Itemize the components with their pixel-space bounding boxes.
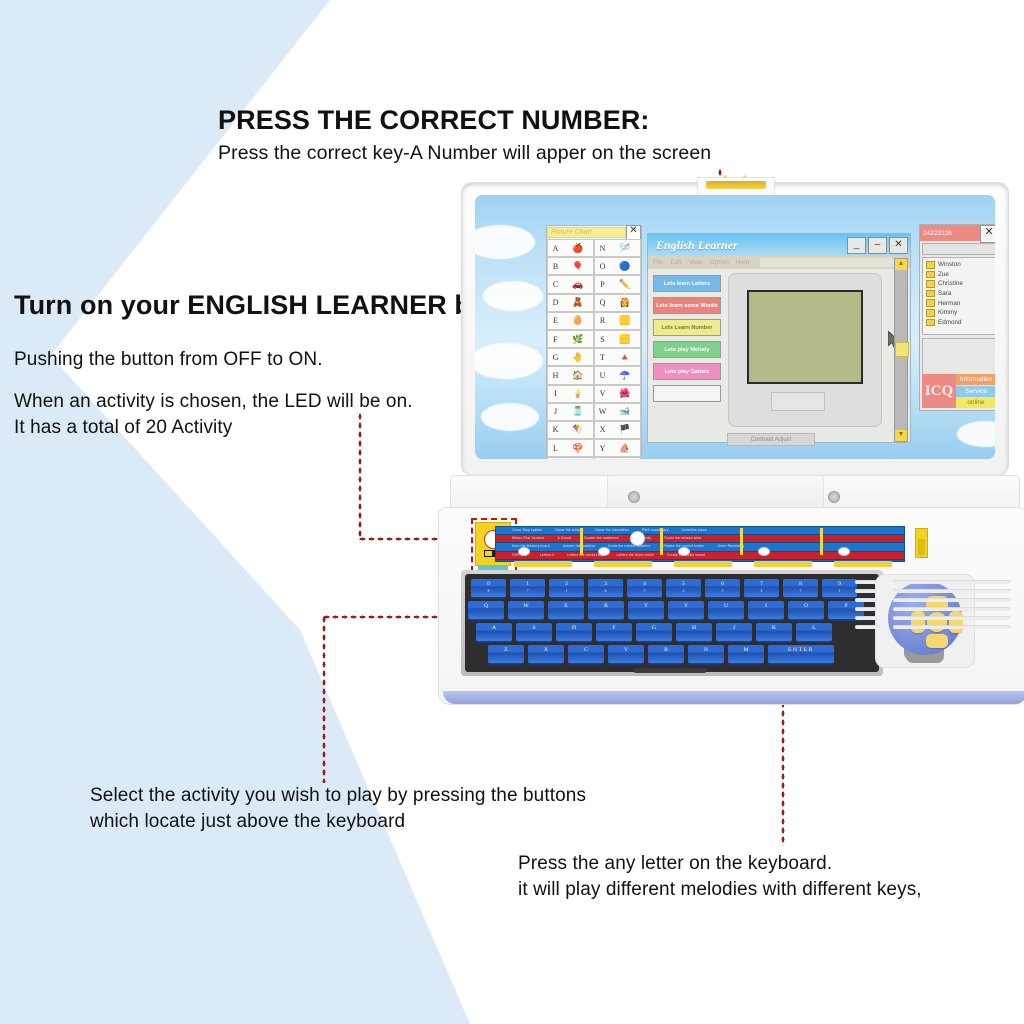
cloud-icon xyxy=(475,225,535,259)
key-sublabel: 7 xyxy=(783,587,818,593)
menu-item[interactable]: Edit xyxy=(670,259,681,266)
picture-chart-icon: 🫙 xyxy=(563,407,593,416)
key-label: J xyxy=(716,623,752,631)
picture-chart-icon: 🍦 xyxy=(563,389,593,398)
keyboard-row-qwerty: QWERTYUIOP xyxy=(468,601,864,619)
key-6[interactable]: 63 xyxy=(705,579,740,597)
key-m[interactable]: M xyxy=(728,645,764,663)
activity-button-1[interactable]: Lets learn Letters xyxy=(653,275,721,292)
picture-chart-icon: ✏️ xyxy=(610,280,640,289)
key-label: 3 xyxy=(588,579,623,587)
menubar-filler xyxy=(760,258,905,267)
picture-chart-cell[interactable]: Y⛵ xyxy=(594,439,641,457)
picture-chart-cell[interactable]: Q👸 xyxy=(594,294,641,312)
key-label: W xyxy=(508,601,544,609)
picture-chart-icon: 🐋 xyxy=(610,407,640,416)
icq-contact-row[interactable]: Zue xyxy=(923,270,995,280)
icq-contact-row[interactable]: Winston xyxy=(923,260,995,270)
key-e[interactable]: E xyxy=(548,601,584,619)
picture-chart-title: Picture Chart xyxy=(547,227,626,238)
key-label: 6 xyxy=(705,579,740,587)
volume-slider[interactable] xyxy=(915,528,928,558)
picture-chart-letter: K xyxy=(548,425,563,434)
picture-chart-letter: G xyxy=(548,353,563,362)
activity-button-pad[interactable] xyxy=(674,561,732,567)
icq-tab-list[interactable]: InformationServiceonline xyxy=(956,374,995,408)
key-label: D xyxy=(556,623,592,631)
key-label: T xyxy=(628,601,664,609)
activity-strip-row-2[interactable]: Writes Pital Sentece A Sound Double the … xyxy=(496,535,904,543)
activity-strip-text: Writes Pital Sentece A Sound Double the … xyxy=(496,535,904,542)
picture-chart-letter: A xyxy=(548,244,563,253)
picture-chart-cell[interactable]: Z🔶 xyxy=(594,457,641,459)
picture-chart-icon: 🍄 xyxy=(563,444,593,453)
cloud-icon xyxy=(481,403,539,431)
picture-chart-letter: J xyxy=(548,407,563,416)
base-front-edge xyxy=(443,691,1024,704)
picture-chart-cell[interactable]: X🏴 xyxy=(594,421,641,439)
key-label: O xyxy=(788,601,824,609)
icq-logo: ICQ xyxy=(922,374,956,408)
key-v[interactable]: V xyxy=(608,645,644,663)
callout-left-line2: When an activity is chosen, the LED will… xyxy=(14,391,486,413)
activity-strip-divider xyxy=(740,528,743,555)
picture-chart-icon: 🟨 xyxy=(610,316,640,325)
poster-canvas: PRESS THE CORRECT NUMBER: Press the corr… xyxy=(0,0,1024,1024)
picture-chart-cell[interactable]: M🌙 xyxy=(547,457,594,459)
key-label: 1 xyxy=(510,579,545,587)
activity-button-6[interactable] xyxy=(653,385,721,402)
maximize-icon[interactable]: – xyxy=(868,237,887,254)
key-sublabel: 1 xyxy=(549,587,584,593)
cloud-icon xyxy=(483,281,543,311)
callout-br-line1: Press the any letter on the keyboard. xyxy=(518,853,922,875)
key-label: A xyxy=(476,623,512,631)
key-o[interactable]: O xyxy=(788,601,824,619)
key-label: U xyxy=(708,601,744,609)
picture-chart-cell[interactable]: G🤚 xyxy=(547,348,594,366)
keyboard[interactable]: 08172136455263748791 QWERTYUIOP ASDFGHJK… xyxy=(461,570,883,676)
key-r[interactable]: R xyxy=(588,601,624,619)
icq-contact-name: Herman xyxy=(938,300,960,307)
picture-chart-letter: H xyxy=(548,371,563,380)
key-label: 2 xyxy=(549,579,584,587)
key-label: N xyxy=(688,645,724,653)
picture-chart-cell[interactable]: J🫙 xyxy=(547,403,594,421)
menu-item[interactable]: Option xyxy=(710,259,729,266)
picture-chart-titlebar: Picture Chart ✕ xyxy=(547,226,641,239)
picture-chart-icon: 🧸 xyxy=(563,298,593,307)
cloud-icon xyxy=(957,421,995,447)
picture-chart-letter: R xyxy=(595,316,610,325)
key-i[interactable]: I xyxy=(748,601,784,619)
picture-chart-cell[interactable]: P✏️ xyxy=(594,275,641,293)
key-k[interactable]: K xyxy=(756,623,792,641)
activity-strip-divider xyxy=(820,528,823,555)
callout-left-line3: It has a total of 20 Activity xyxy=(14,417,486,439)
callout-top-sub: Press the correct key-A Number will appe… xyxy=(218,142,711,165)
key-4[interactable]: 45 xyxy=(627,579,662,597)
english-learner-body: Lets learn LettersLets learn some WordsL… xyxy=(648,269,910,444)
picture-chart-cell[interactable]: B🎈 xyxy=(547,257,594,275)
callout-left-line1: Pushing the button from OFF to ON. xyxy=(14,349,486,371)
icq-contact-row[interactable]: Kimmy xyxy=(923,308,995,318)
picture-chart-icon: 🪁 xyxy=(563,425,593,434)
callout-bl-line1: Select the activity you wish to play by … xyxy=(90,785,586,807)
key-label: 8 xyxy=(783,579,818,587)
envelope-icon xyxy=(926,261,935,269)
activity-led-icon xyxy=(758,547,770,556)
callout-br-line2: it will play different melodies with dif… xyxy=(518,879,922,901)
key-sublabel: 3 xyxy=(705,587,740,593)
key-f[interactable]: F xyxy=(596,623,632,641)
screw-icon xyxy=(828,491,840,503)
close-icon[interactable]: ✕ xyxy=(889,237,908,254)
key-s[interactable]: S xyxy=(516,623,552,641)
spacebar[interactable] xyxy=(633,668,707,673)
picture-chart-icon: 🌿 xyxy=(563,335,593,344)
activity-button-2[interactable]: Lets learn some Words xyxy=(653,297,721,314)
key-sublabel: 1 xyxy=(822,587,857,593)
icq-tab-3[interactable]: online xyxy=(956,397,995,408)
key-x[interactable]: X xyxy=(528,645,564,663)
picture-chart-icon: 🔵 xyxy=(610,262,640,271)
picture-chart-cell[interactable]: U☂️ xyxy=(594,366,641,384)
picture-chart-letter: Q xyxy=(595,298,610,307)
picture-chart-cell[interactable]: O🔵 xyxy=(594,257,641,275)
icq-tab-2[interactable]: Service xyxy=(956,386,995,397)
latch-bar xyxy=(706,181,766,189)
side-vents xyxy=(855,580,877,636)
key-label: S xyxy=(516,623,552,631)
key-label: X xyxy=(528,645,564,653)
key-u[interactable]: U xyxy=(708,601,744,619)
key-label: B xyxy=(648,645,684,653)
icq-contact-name: Edmond xyxy=(938,319,961,326)
callout-bottom-left: Select the activity you wish to play by … xyxy=(90,785,586,833)
picture-chart-letter: O xyxy=(595,262,610,271)
picture-chart-cell[interactable]: I🍦 xyxy=(547,385,594,403)
icq-tab-1[interactable]: Information xyxy=(956,374,995,385)
key-8[interactable]: 87 xyxy=(783,579,818,597)
picture-chart-icon: 🏴 xyxy=(610,425,640,434)
key-sublabel: 5 xyxy=(627,587,662,593)
activity-button-pad[interactable] xyxy=(834,561,892,567)
key-7[interactable]: 74 xyxy=(744,579,779,597)
key-sublabel: 6 xyxy=(588,587,623,593)
key-label: L xyxy=(796,623,832,631)
picture-chart-icon: 🤚 xyxy=(563,353,593,362)
envelope-icon xyxy=(926,299,935,307)
picture-chart-letter: V xyxy=(595,389,610,398)
key-c[interactable]: C xyxy=(568,645,604,663)
key-enter[interactable]: ENTER xyxy=(768,645,834,663)
activity-button-4[interactable]: Lets play Melody xyxy=(653,341,721,358)
envelope-icon xyxy=(926,280,935,288)
picture-chart-icon: 🏠 xyxy=(563,371,593,380)
menu-item[interactable]: View xyxy=(689,259,703,266)
picture-chart-icon: ☂️ xyxy=(610,371,640,380)
callout-left-heading: Turn on your ENGLISH LEARNER by xyxy=(14,290,486,321)
picture-chart-letter: W xyxy=(595,407,610,416)
key-label: 0 xyxy=(471,579,506,587)
laptop-base: Count Stop system Name the animal Name t… xyxy=(438,507,1024,705)
key-label: M xyxy=(728,645,764,653)
key-9[interactable]: 91 xyxy=(822,579,857,597)
laptop-display: Picture Chart ✕ A🍎N🪡B🎈O🔵C🚗P✏️D🧸Q👸E🥚R🟨F🌿S… xyxy=(475,195,995,459)
key-3[interactable]: 36 xyxy=(588,579,623,597)
picture-chart-letter: D xyxy=(548,298,563,307)
speaker-vents xyxy=(893,580,1011,640)
picture-chart-letter: F xyxy=(548,335,563,344)
minimize-icon[interactable]: _ xyxy=(847,237,866,254)
picture-chart-cell[interactable]: R🟨 xyxy=(594,312,641,330)
callout-bl-line2: which locate just above the keyboard xyxy=(90,811,586,833)
activity-button-5[interactable]: Lets play Games xyxy=(653,363,721,380)
picture-chart-letter: N xyxy=(595,244,610,253)
menu-item[interactable]: Help xyxy=(736,259,749,266)
english-learner-window[interactable]: English Learner _ – ✕ FileEditViewOption… xyxy=(647,233,911,443)
key-label: Z xyxy=(488,645,524,653)
activity-button-pad[interactable] xyxy=(754,561,812,567)
picture-chart-icon: 🔺 xyxy=(610,353,640,362)
picture-chart-icon: 🪡 xyxy=(610,244,640,253)
key-label: 4 xyxy=(627,579,662,587)
lcd-bezel xyxy=(728,273,882,427)
picture-chart-letter: C xyxy=(548,280,563,289)
key-label: G xyxy=(636,623,672,631)
picture-chart-cell[interactable]: D🧸 xyxy=(547,294,594,312)
callout-top-heading: PRESS THE CORRECT NUMBER: xyxy=(218,105,711,136)
icq-contact-row[interactable]: Christine xyxy=(923,279,995,289)
callout-bottom-right: Press the any letter on the keyboard. it… xyxy=(518,853,922,901)
keyboard-row-asdf: ASDFGHJKL xyxy=(476,623,832,641)
envelope-icon xyxy=(926,319,935,327)
picture-chart-grid: A🍎N🪡B🎈O🔵C🚗P✏️D🧸Q👸E🥚R🟨F🌿S🟨G🤚T🔺H🏠U☂️I🍦V🌺J🫙… xyxy=(547,239,641,459)
picture-chart-icon: 🌺 xyxy=(610,389,640,398)
picture-chart-cell[interactable]: C🚗 xyxy=(547,275,594,293)
keyboard-row-zxcv: ZXCVBNMENTER xyxy=(488,645,834,663)
activity-button-pad[interactable] xyxy=(594,561,652,567)
key-g[interactable]: G xyxy=(636,623,672,641)
key-label: R xyxy=(588,601,624,609)
leader-bl-vertical xyxy=(322,615,326,783)
close-icon[interactable]: ✕ xyxy=(980,225,995,243)
key-j[interactable]: J xyxy=(716,623,752,641)
activity-led-icon xyxy=(630,531,645,546)
lcd-button[interactable] xyxy=(771,392,825,411)
key-label: 7 xyxy=(744,579,779,587)
key-n[interactable]: N xyxy=(688,645,724,663)
picture-chart-letter: S xyxy=(595,335,610,344)
lcd-screen xyxy=(747,290,863,384)
keyboard-row-numbers: 08172136455263748791 xyxy=(471,579,857,597)
icq-search-input[interactable] xyxy=(922,243,995,255)
picture-chart-letter: X xyxy=(595,425,610,434)
callout-left: Turn on your ENGLISH LEARNER by Pushing … xyxy=(14,290,486,439)
picture-chart-cell[interactable]: H🏠 xyxy=(547,366,594,384)
picture-chart-window[interactable]: Picture Chart ✕ A🍎N🪡B🎈O🔵C🚗P✏️D🧸Q👸E🥚R🟨F🌿S… xyxy=(546,225,642,459)
key-b[interactable]: B xyxy=(648,645,684,663)
key-5[interactable]: 52 xyxy=(666,579,701,597)
key-l[interactable]: L xyxy=(796,623,832,641)
icq-contact-name: Winston xyxy=(938,261,961,268)
activity-strip-row-1[interactable]: Count Stop system Name the animal Name t… xyxy=(496,527,904,535)
picture-chart-icon: 🥚 xyxy=(563,316,593,325)
activity-led-icon xyxy=(678,547,690,556)
laptop-lid: Picture Chart ✕ A🍎N🪡B🎈O🔵C🚗P✏️D🧸Q👸E🥚R🟨F🌿S… xyxy=(461,182,1009,476)
toy-laptop: Picture Chart ✕ A🍎N🪡B🎈O🔵C🚗P✏️D🧸Q👸E🥚R🟨F🌿S… xyxy=(432,175,1024,720)
icq-contact-name: Christine xyxy=(938,280,963,287)
picture-chart-letter: B xyxy=(548,262,563,271)
key-label: 9 xyxy=(822,579,857,587)
picture-chart-cell[interactable]: N🪡 xyxy=(594,239,641,257)
key-1[interactable]: 17 xyxy=(510,579,545,597)
key-a[interactable]: A xyxy=(476,623,512,641)
picture-chart-letter: I xyxy=(548,389,563,398)
activity-button-list: Lets learn LettersLets learn some WordsL… xyxy=(653,275,721,407)
activity-led-icon xyxy=(838,547,850,556)
picture-chart-letter: T xyxy=(595,353,610,362)
key-label: H xyxy=(676,623,712,631)
scroll-thumb[interactable] xyxy=(895,342,909,357)
key-sublabel: 7 xyxy=(510,587,545,593)
english-learner-title: English Learner xyxy=(656,238,847,253)
icq-footer: ICQ InformationServiceonline xyxy=(922,374,995,408)
picture-chart-icon: 👸 xyxy=(610,298,640,307)
activity-strip-divider xyxy=(660,528,663,555)
picture-chart-cell[interactable]: W🐋 xyxy=(594,403,641,421)
picture-chart-cell[interactable]: E🥚 xyxy=(547,312,594,330)
picture-chart-icon: 🟨 xyxy=(610,335,640,344)
icq-number: 24222226 xyxy=(920,225,980,241)
picture-chart-letter: Y xyxy=(595,444,610,453)
icq-titlebar: 24222226 ✕ xyxy=(920,225,995,241)
activity-strip-divider xyxy=(580,528,583,555)
envelope-icon xyxy=(926,271,935,279)
picture-chart-cell[interactable]: V🌺 xyxy=(594,385,641,403)
picture-chart-icon: 🍎 xyxy=(563,244,593,253)
english-learner-titlebar: English Learner _ – ✕ xyxy=(648,234,910,256)
menu-item[interactable]: File xyxy=(653,259,663,266)
contrast-adjust-label[interactable]: Contrast Adjust xyxy=(727,433,815,446)
icq-contact-name: Kimmy xyxy=(938,309,957,316)
key-sublabel: 4 xyxy=(744,587,779,593)
keyboard-plate: 08172136455263748791 QWERTYUIOP ASDFGHJK… xyxy=(465,574,879,672)
activity-strip-text: Count Stop system Name the animal Name t… xyxy=(496,527,904,534)
scroll-up-icon[interactable]: ▲ xyxy=(895,259,907,270)
key-sublabel: 8 xyxy=(471,587,506,593)
key-q[interactable]: Q xyxy=(468,601,504,619)
icq-contact-name: Sara xyxy=(938,290,951,297)
picture-chart-letter: U xyxy=(595,371,610,380)
scrollbar[interactable]: ▲ ▼ xyxy=(894,258,908,442)
cloud-icon xyxy=(475,343,543,379)
activity-led-icon xyxy=(518,547,530,556)
picture-chart-icon: 🎈 xyxy=(563,262,593,271)
key-label: Q xyxy=(468,601,504,609)
picture-chart-cell[interactable]: F🌿 xyxy=(547,330,594,348)
picture-chart-cell[interactable]: K🪁 xyxy=(547,421,594,439)
activity-button-3[interactable]: Lets Learn Number xyxy=(653,319,721,336)
english-learner-menubar[interactable]: FileEditViewOptionHelp xyxy=(648,256,910,269)
picture-chart-letter: L xyxy=(548,444,563,453)
key-2[interactable]: 21 xyxy=(549,579,584,597)
key-label: K xyxy=(756,623,792,631)
envelope-icon xyxy=(926,290,935,298)
key-w[interactable]: W xyxy=(508,601,544,619)
key-label: E xyxy=(548,601,584,609)
icq-contact-row[interactable]: Edmond xyxy=(923,318,995,328)
key-h[interactable]: H xyxy=(676,623,712,641)
key-t[interactable]: T xyxy=(628,601,664,619)
screw-icon xyxy=(628,491,640,503)
activity-button-pad[interactable] xyxy=(514,561,572,567)
close-icon[interactable]: ✕ xyxy=(626,225,641,240)
picture-chart-cell[interactable]: T🔺 xyxy=(594,348,641,366)
picture-chart-cell[interactable]: S🟨 xyxy=(594,330,641,348)
icq-contact-list[interactable]: WinstonZueChristineSaraHermanKimmyEdmond xyxy=(922,257,995,335)
key-label: I xyxy=(748,601,784,609)
key-label: V xyxy=(608,645,644,653)
scroll-down-icon[interactable]: ▼ xyxy=(895,430,907,441)
picture-chart-letter: E xyxy=(548,316,563,325)
key-label: F xyxy=(596,623,632,631)
leader-left-vertical xyxy=(358,412,362,540)
envelope-icon xyxy=(926,309,935,317)
picture-chart-cell[interactable]: L🍄 xyxy=(547,439,594,457)
key-label: ENTER xyxy=(768,645,834,653)
key-0[interactable]: 08 xyxy=(471,579,506,597)
key-d[interactable]: D xyxy=(556,623,592,641)
icq-window[interactable]: 24222226 ✕ WinstonZueChristineSaraHerman… xyxy=(919,224,995,411)
key-label: C xyxy=(568,645,604,653)
callout-top: PRESS THE CORRECT NUMBER: Press the corr… xyxy=(218,105,711,165)
icq-contact-name: Zue xyxy=(938,271,949,278)
picture-chart-letter: P xyxy=(595,280,610,289)
picture-chart-cell[interactable]: A🍎 xyxy=(547,239,594,257)
picture-chart-icon: 🚗 xyxy=(563,280,593,289)
activity-button-strip[interactable]: Count Stop system Name the animal Name t… xyxy=(495,526,905,562)
key-label: Y xyxy=(668,601,704,609)
key-label: 5 xyxy=(666,579,701,587)
icq-contact-row[interactable]: Herman xyxy=(923,298,995,308)
activity-led-icon xyxy=(598,547,610,556)
picture-chart-icon: ⛵ xyxy=(610,444,640,453)
key-sublabel: 2 xyxy=(666,587,701,593)
key-z[interactable]: Z xyxy=(488,645,524,663)
key-y[interactable]: Y xyxy=(668,601,704,619)
icq-contact-row[interactable]: Sara xyxy=(923,289,995,299)
